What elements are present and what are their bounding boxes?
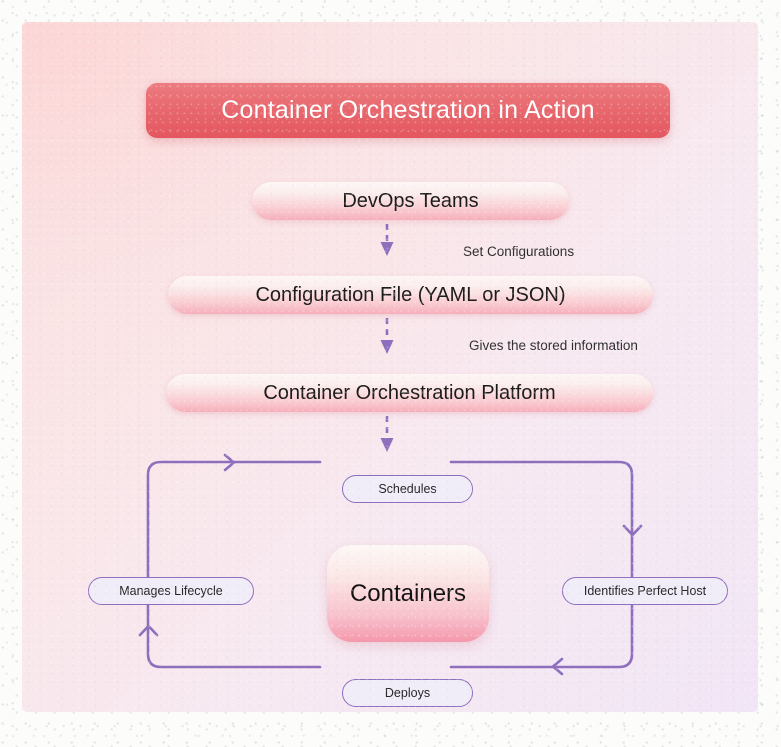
arrowhead-left-bottom [553,659,562,674]
node-orchestration-platform-label: Container Orchestration Platform [263,382,555,405]
node-devops-teams[interactable]: DevOps Teams [252,182,569,220]
diagram-title: Container Orchestration in Action [221,96,594,125]
diagram-canvas: Container Orchestration in Action DevOps… [22,22,758,712]
loop-label-schedules[interactable]: Schedules [342,475,473,503]
node-configuration-file-label: Configuration File (YAML or JSON) [255,284,565,307]
node-configuration-file[interactable]: Configuration File (YAML or JSON) [168,276,653,314]
edge-label-set-configurations: Set Configurations [463,244,574,259]
edge-label-gives-stored-information: Gives the stored information [469,338,638,353]
node-orchestration-platform[interactable]: Container Orchestration Platform [166,374,653,412]
loop-label-deploys[interactable]: Deploys [342,679,473,707]
loop-label-manages-lifecycle[interactable]: Manages Lifecycle [88,577,254,605]
loop-segment-bottom-left [148,605,320,667]
loop-label-identifies-perfect-host[interactable]: Identifies Perfect Host [562,577,728,605]
arrowhead-down-right [624,526,641,535]
arrowhead-right-top [225,455,234,470]
loop-label-manages-lifecycle-text: Manages Lifecycle [119,584,223,598]
arrowhead-up-left [140,626,157,635]
node-devops-teams-label: DevOps Teams [342,190,478,213]
loop-label-deploys-text: Deploys [385,686,430,700]
node-containers-label: Containers [350,580,466,608]
diagram-title-banner: Container Orchestration in Action [146,83,670,138]
loop-label-identifies-perfect-host-text: Identifies Perfect Host [584,584,706,598]
page-background: Container Orchestration in Action DevOps… [0,0,781,747]
loop-segment-left-top [148,462,320,578]
node-containers[interactable]: Containers [327,545,489,642]
loop-label-schedules-text: Schedules [378,482,436,496]
